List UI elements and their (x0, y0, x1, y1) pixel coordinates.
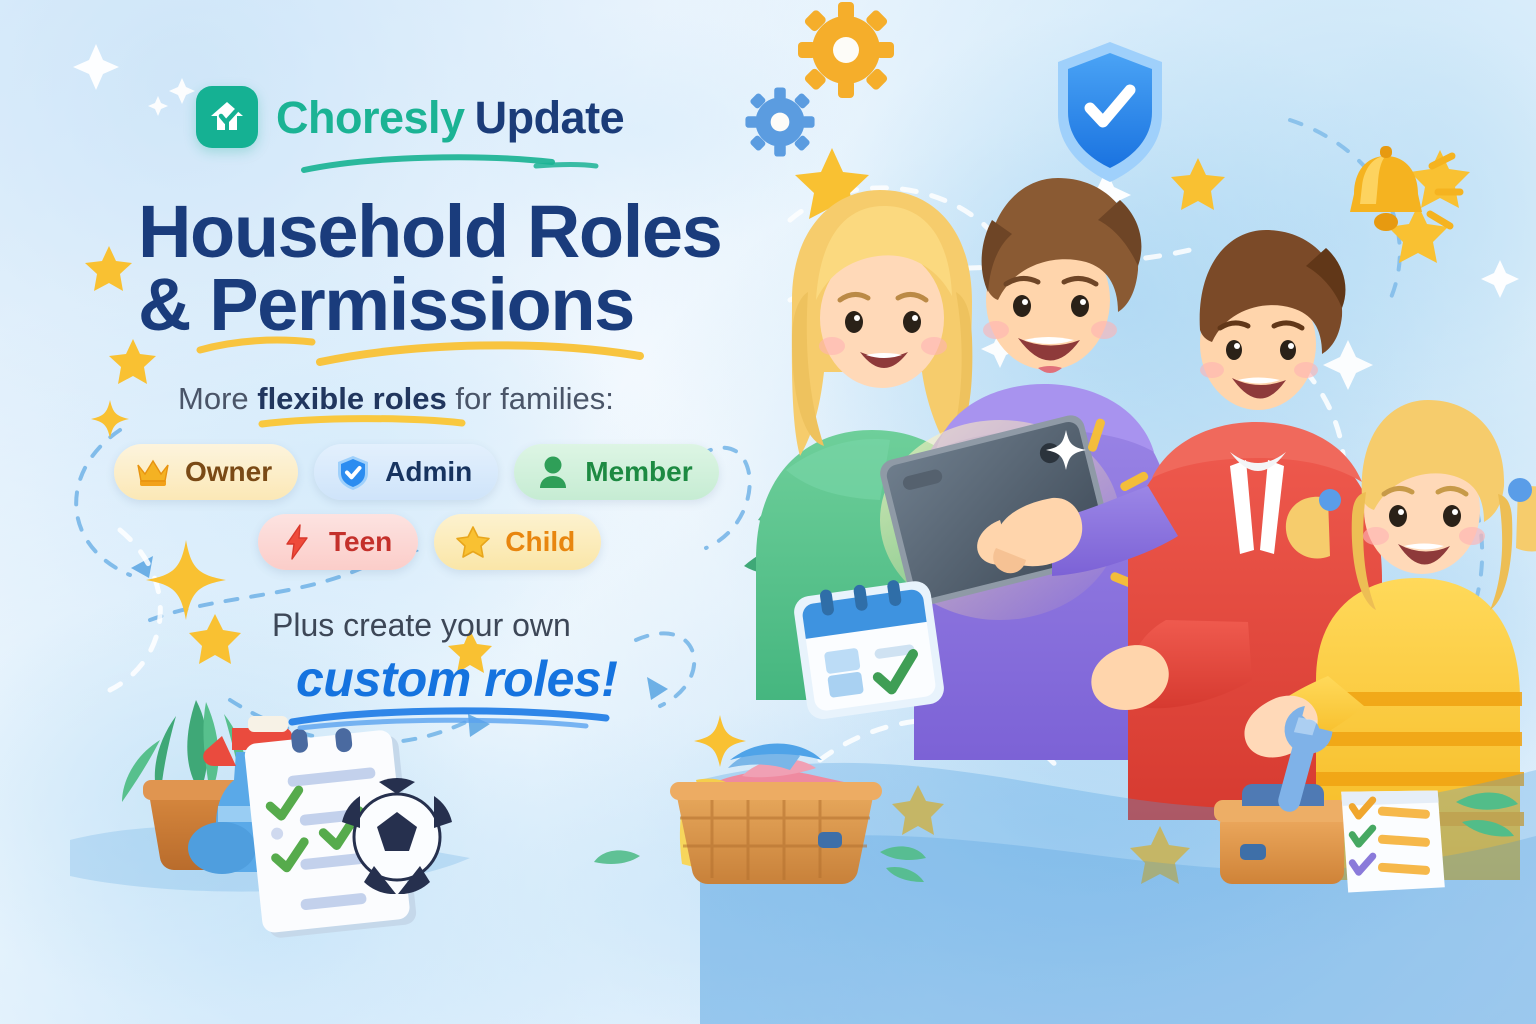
calendar-check-icon (791, 575, 945, 721)
brand-lockup: ChoreslyUpdate (196, 86, 624, 148)
subhead-emphasis: flexible roles (257, 381, 447, 416)
brand-name: ChoreslyUpdate (276, 95, 624, 140)
house-check-icon (196, 86, 258, 148)
subhead: More flexible roles for families: (178, 381, 614, 417)
role-pill-label: Owner (185, 456, 272, 488)
role-pill-label: Teen (329, 526, 392, 558)
role-pill-admin[interactable]: Admin (314, 444, 498, 500)
headline-line-2: & Permissions (138, 269, 758, 342)
page-title: Household Roles & Permissions (138, 196, 758, 341)
footer-line-1: Plus create your own (272, 607, 571, 644)
crown-icon (134, 453, 172, 491)
subhead-prefix: More (178, 381, 257, 416)
headline-underline (196, 336, 666, 370)
headline-line-1: Household Roles (138, 190, 721, 273)
role-pill-list: Owner Admin (114, 444, 754, 584)
subhead-suffix: for families: (447, 381, 614, 416)
shield-check-icon (334, 453, 372, 491)
star-icon (454, 523, 492, 561)
role-pill-teen[interactable]: Teen (258, 514, 418, 570)
role-pill-label: Admin (385, 456, 472, 488)
brand-name-primary: Choresly (276, 92, 465, 143)
role-pill-child[interactable]: Child (434, 514, 601, 570)
role-pill-owner[interactable]: Owner (114, 444, 298, 500)
footer-line-2: custom roles! (296, 650, 617, 708)
lightning-bolt-icon (278, 523, 316, 561)
role-pill-label: Member (585, 456, 692, 488)
role-pill-label: Child (505, 526, 575, 558)
brand-underline (300, 152, 600, 178)
person-icon (534, 453, 572, 491)
promo-banner: ChoreslyUpdate Household Roles & Permiss… (0, 0, 1536, 1024)
subhead-underline (258, 415, 468, 429)
brand-name-secondary: Update (475, 92, 625, 143)
role-pill-member[interactable]: Member (514, 444, 718, 500)
toolbox-wrench (1214, 699, 1518, 899)
footer-underline (286, 706, 626, 730)
